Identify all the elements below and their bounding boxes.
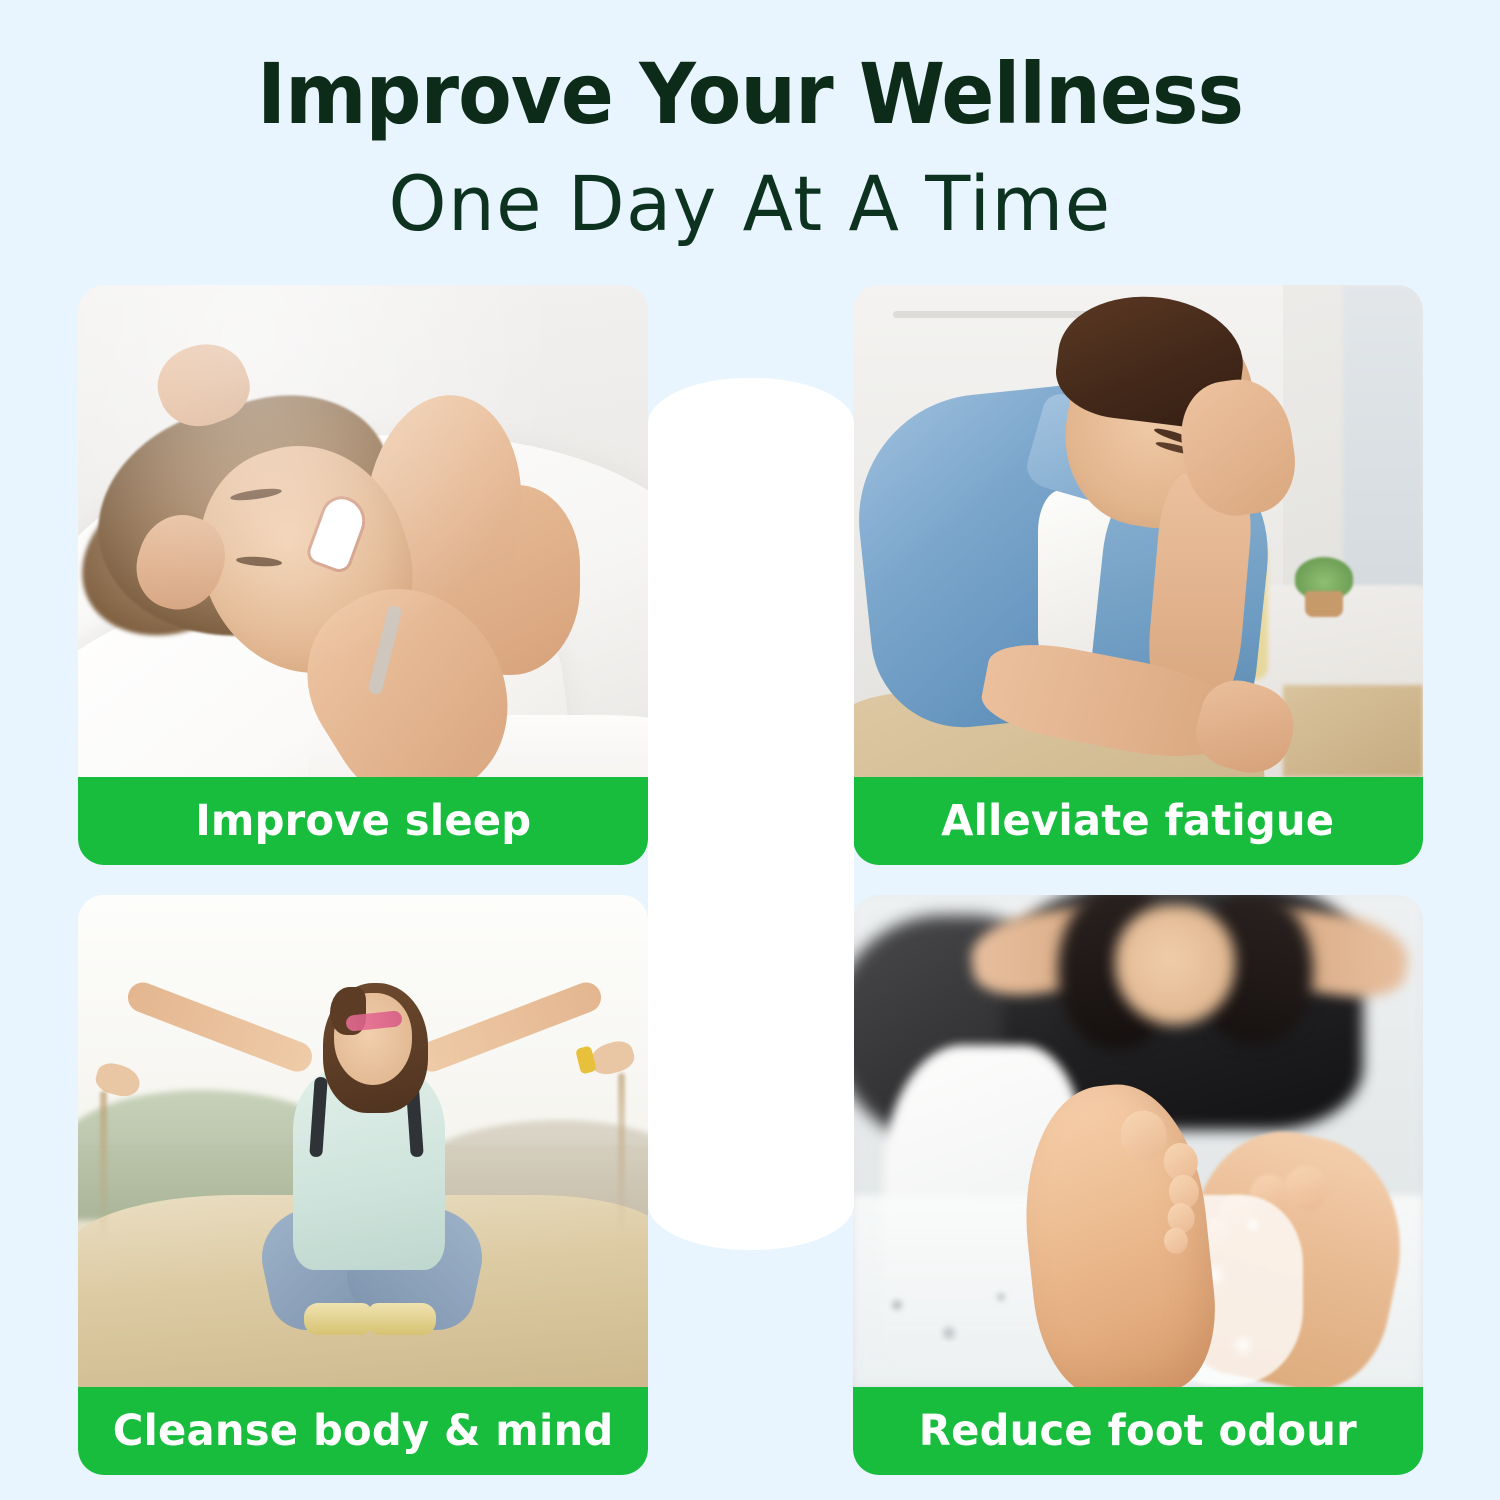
- page-title: Improve Your Wellness: [53, 52, 1448, 136]
- toe: [1118, 1108, 1169, 1163]
- page-subtitle: One Day At A Time: [23, 166, 1478, 242]
- card-caption-label: Alleviate fatigue: [941, 796, 1334, 846]
- headline-block: Improve Your Wellness One Day At A Time: [0, 52, 1500, 242]
- wood-floor-shape: [1283, 685, 1423, 777]
- benefit-card-cleanse-body-mind[interactable]: Cleanse body & mind: [78, 895, 648, 1475]
- plant-pot-shape: [1305, 591, 1343, 617]
- card-caption-label: Cleanse body & mind: [113, 1406, 614, 1456]
- card-caption-bar: Reduce foot odour: [853, 1387, 1423, 1475]
- light-glow-overlay: [78, 285, 648, 777]
- blurred-face-shape: [1115, 905, 1235, 1025]
- benefit-card-reduce-foot-odour[interactable]: Reduce foot odour: [853, 895, 1423, 1475]
- card-caption-bar: Improve sleep: [78, 777, 648, 865]
- center-divider-band: [648, 378, 854, 1250]
- card-caption-label: Reduce foot odour: [919, 1406, 1357, 1456]
- wellness-infographic: Improve Your Wellness One Day At A Time …: [0, 0, 1500, 1500]
- foot-bath-photo: [853, 895, 1423, 1387]
- water-bubbles-overlay: [873, 1275, 1043, 1385]
- card-caption-label: Improve sleep: [195, 796, 531, 846]
- foreground-foot-toes: [1108, 1105, 1213, 1246]
- sleeping-woman-photo: [78, 285, 648, 777]
- card-caption-bar: Alleviate fatigue: [853, 777, 1423, 865]
- falling-sand-right: [618, 1073, 625, 1233]
- benefit-card-improve-sleep[interactable]: Improve sleep: [78, 285, 648, 865]
- sneaker-left: [304, 1303, 372, 1335]
- woman-on-beach-photo: [78, 895, 648, 1387]
- falling-sand-left: [100, 1091, 107, 1241]
- benefit-card-alleviate-fatigue[interactable]: Alleviate fatigue: [853, 285, 1423, 865]
- fatigued-man-photo: [853, 285, 1423, 777]
- sneaker-right: [368, 1303, 436, 1335]
- card-caption-bar: Cleanse body & mind: [78, 1387, 648, 1475]
